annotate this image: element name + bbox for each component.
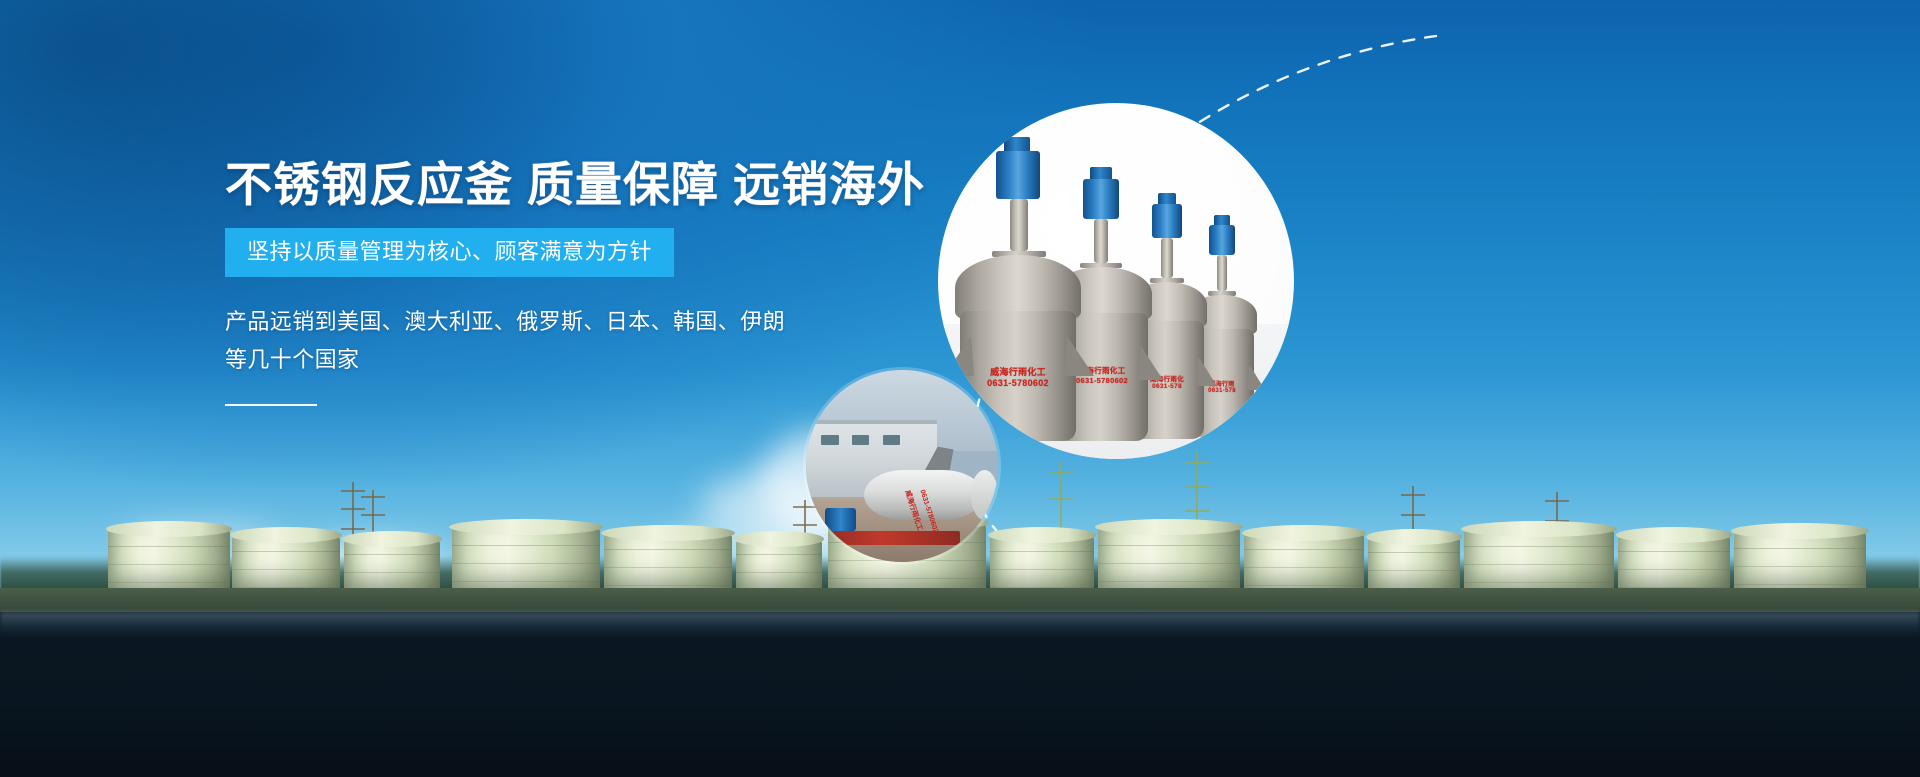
subtitle-badge: 坚持以质量管理为核心、顾客满意为方针: [225, 228, 674, 277]
storage-tank: [1368, 538, 1460, 592]
rule-divider: [225, 404, 317, 406]
tank-motor: [825, 508, 856, 531]
storage-tank: [1464, 530, 1614, 592]
water-reflection: [0, 612, 1920, 638]
factory-window: [821, 435, 838, 445]
storage-tank: [344, 540, 440, 592]
factory-window: [852, 435, 869, 445]
body-text: 产品远销到美国、澳大利亚、俄罗斯、日本、韩国、伊朗 等几十个国家: [225, 303, 785, 379]
body-line-1: 产品远销到美国、澳大利亚、俄罗斯、日本、韩国、伊朗: [225, 309, 785, 334]
subtitle-wrap: 坚持以质量管理为核心、顾客满意为方针: [225, 228, 1045, 277]
horizontal-tank-cap: [971, 470, 998, 520]
storage-tank: [108, 530, 230, 592]
body-line-2: 等几十个国家: [225, 347, 359, 372]
storage-tank: [990, 536, 1094, 592]
storage-tank: [1244, 534, 1364, 592]
factory-window: [883, 435, 900, 445]
storage-tank: [1618, 536, 1730, 592]
page-title: 不锈钢反应釜 质量保障 远销海外: [225, 160, 1045, 210]
hero-banner: 威海行雨 0631-578 威海行雨化 0631-578 威海行: [0, 0, 1920, 777]
copy-block: 不锈钢反应釜 质量保障 远销海外 坚持以质量管理为核心、顾客满意为方针 产品远销…: [225, 160, 1045, 406]
storage-tank: [1734, 532, 1866, 592]
tank-skid: [818, 531, 960, 544]
storage-tank: [452, 528, 600, 592]
factory-roofline: [806, 420, 937, 424]
storage-tank: [1098, 528, 1240, 592]
storage-tank: [604, 534, 732, 592]
storage-tank: [232, 536, 340, 592]
